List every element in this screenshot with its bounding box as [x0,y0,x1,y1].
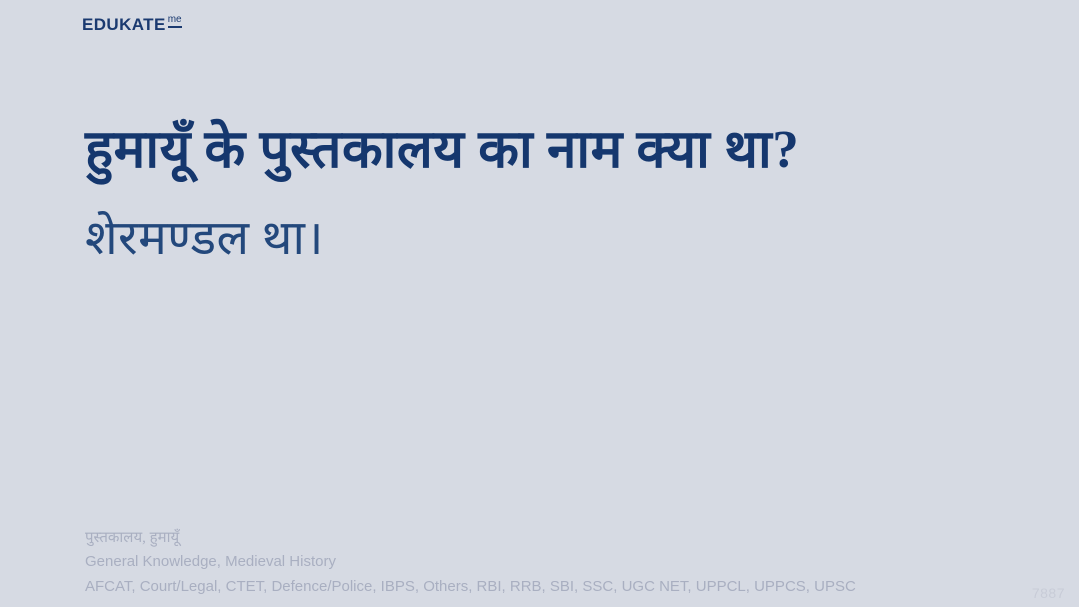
question-answer-block: हुमायूँ के पुस्तकालय का नाम क्या था? शेर… [85,118,1019,269]
footer-tags: पुस्तकालय, हुमायूँ [85,526,979,550]
slide-canvas: EDUKATE me हुमायूँ के पुस्तकालय का नाम क… [0,0,1079,607]
answer-text: शेरमण्डल था। [85,209,1019,269]
footer-exams: AFCAT, Court/Legal, CTET, Defence/Police… [85,575,979,599]
watermark-code: 7887 [1032,585,1065,601]
footer-subjects: General Knowledge, Medieval History [85,550,979,574]
footer-metadata: पुस्तकालय, हुमायूँ General Knowledge, Me… [85,526,979,599]
brand-suffix: me [168,15,182,28]
brand-logo[interactable]: EDUKATE me [82,16,182,33]
brand-name: EDUKATE [82,16,166,33]
question-text: हुमायूँ के पुस्तकालय का नाम क्या था? [85,118,1019,183]
